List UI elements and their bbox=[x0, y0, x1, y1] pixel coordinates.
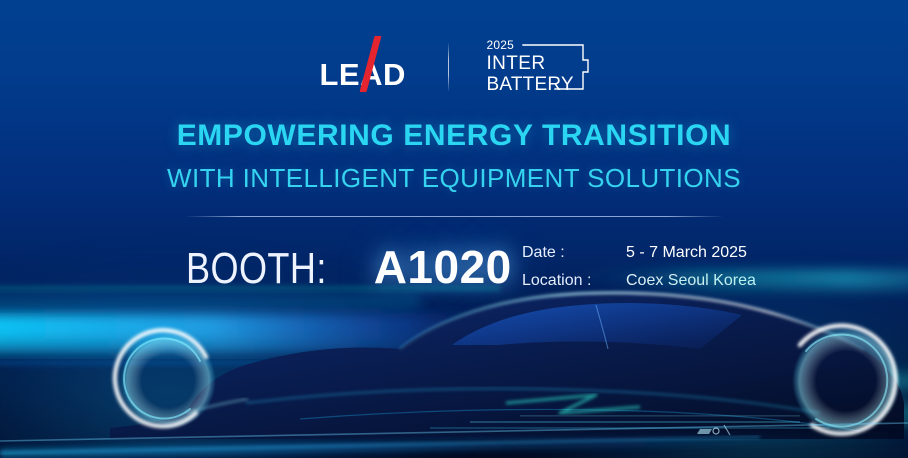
logo-divider bbox=[448, 43, 449, 91]
headline-primary: EMPOWERING ENERGY TRANSITION bbox=[0, 120, 908, 152]
headline-block: EMPOWERING ENERGY TRANSITION WITH INTELL… bbox=[0, 120, 908, 193]
interbattery-line2: BATTERY bbox=[487, 75, 574, 94]
promo-banner: LEAD 2025 INTER BATTERY EMPOWERING ENERG… bbox=[0, 0, 908, 458]
logo-row: LEAD 2025 INTER BATTERY bbox=[0, 38, 908, 96]
lead-logo: LEAD bbox=[320, 40, 412, 94]
sports-car-graphic bbox=[0, 253, 908, 458]
interbattery-logo: 2025 INTER BATTERY bbox=[485, 39, 589, 95]
interbattery-year: 2025 bbox=[487, 39, 515, 51]
car-illustration bbox=[0, 253, 908, 458]
horizontal-divider bbox=[186, 216, 722, 217]
headline-secondary: WITH INTELLIGENT EQUIPMENT SOLUTIONS bbox=[0, 164, 908, 193]
interbattery-line1: INTER bbox=[487, 54, 546, 73]
